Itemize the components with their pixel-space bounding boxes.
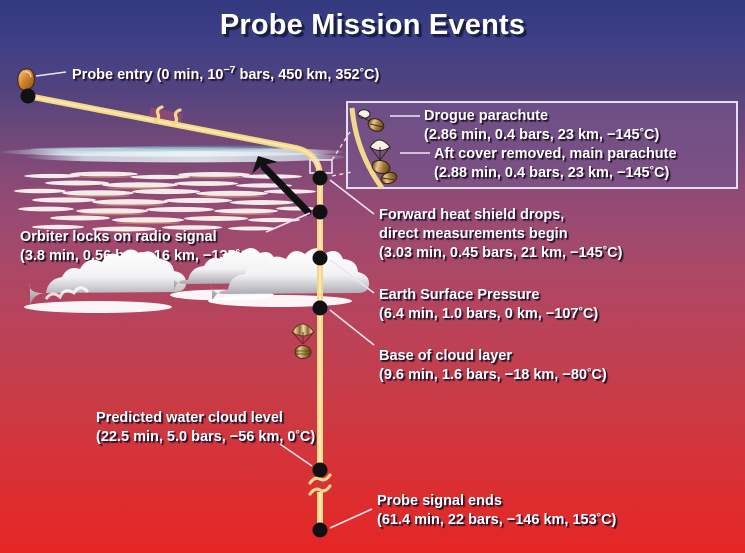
- leader-signal-ends: [330, 509, 372, 528]
- leader-heat-shield: [330, 180, 374, 214]
- leader-water-cloud: [280, 444, 312, 466]
- leader-orbiter-lock: [266, 213, 310, 232]
- probe-mission-events-diagram: Probe Mission Events: [0, 0, 745, 553]
- leader-cloud-base: [330, 310, 374, 345]
- leader-lines: [0, 0, 745, 553]
- leader-earth-surface: [330, 260, 374, 293]
- leader-probe-entry: [36, 72, 66, 76]
- leader-inset-upper: [332, 132, 350, 160]
- leader-inset-lower: [332, 172, 352, 176]
